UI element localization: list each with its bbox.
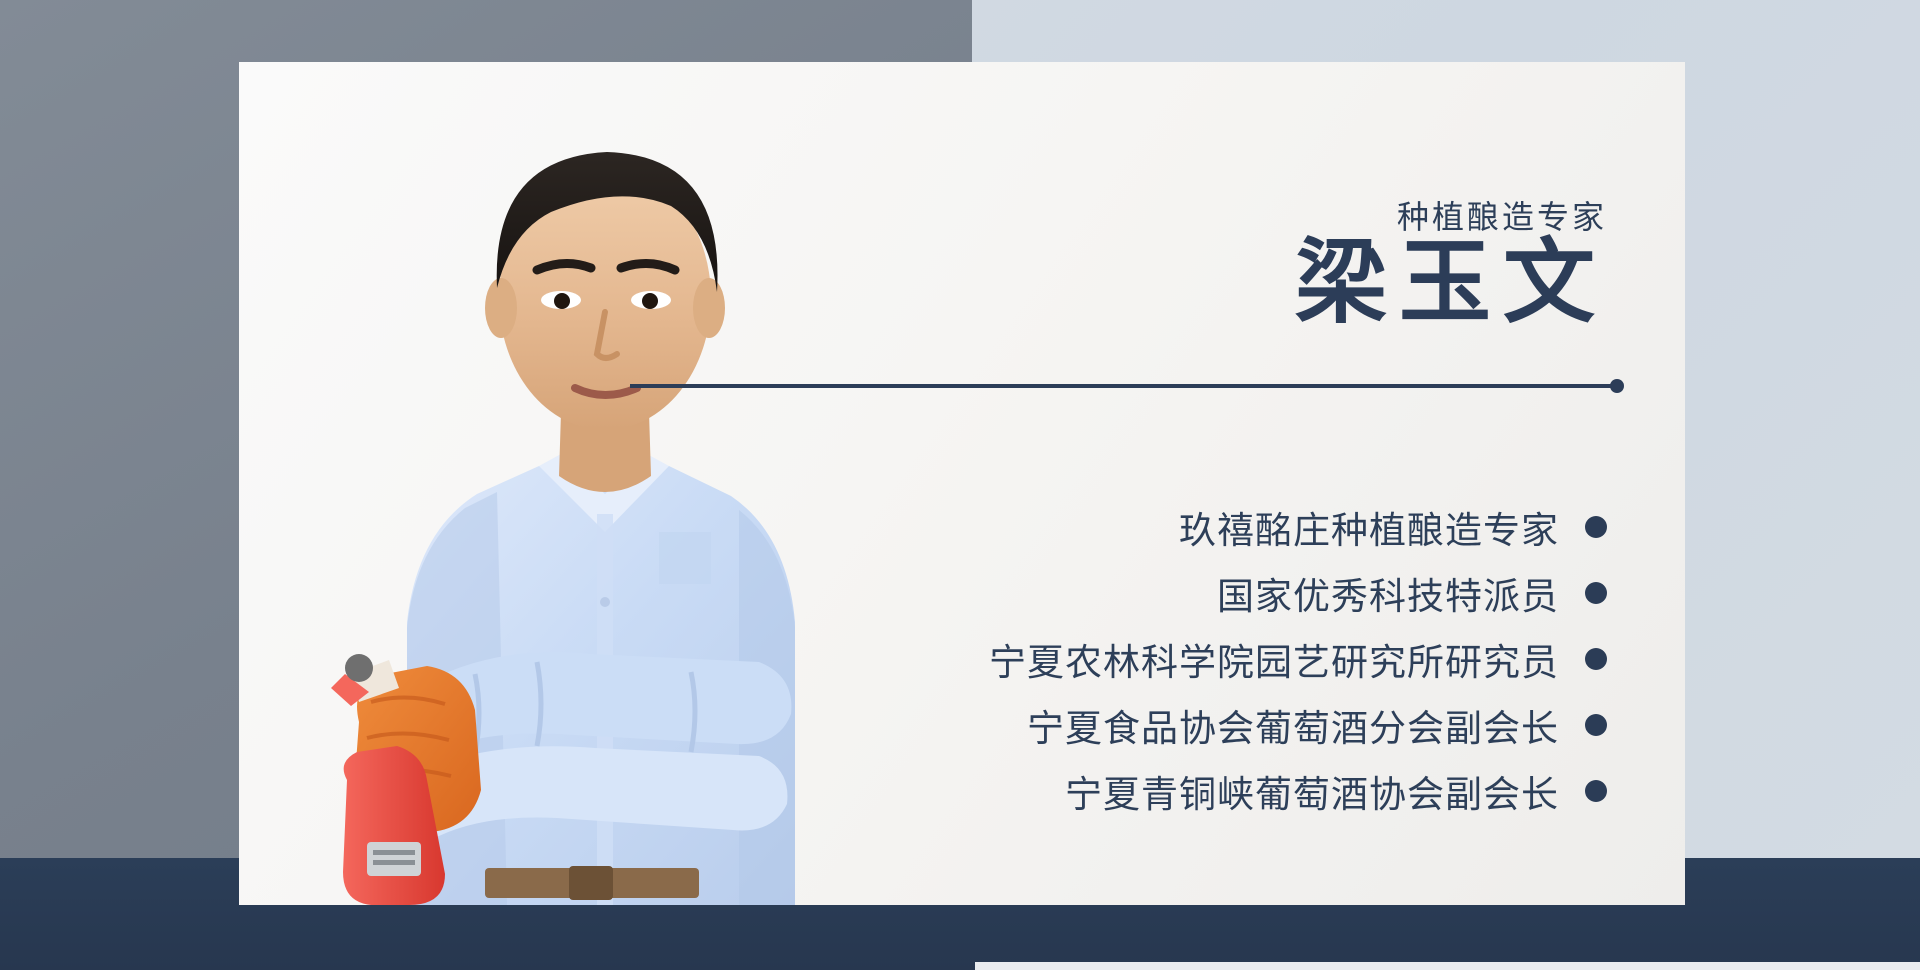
credential-label: 国家优秀科技特派员 (1217, 566, 1559, 620)
list-item: 宁夏食品协会葡萄酒分会副会长 (707, 692, 1607, 758)
credential-label: 玖禧酩庄种植酿造专家 (1179, 500, 1559, 554)
bullet-dot-icon (1585, 780, 1607, 802)
credential-label: 宁夏食品协会葡萄酒分会副会长 (1027, 698, 1559, 752)
expert-name: 梁玉文 (1283, 234, 1607, 333)
list-item: 国家优秀科技特派员 (707, 560, 1607, 626)
credential-label: 宁夏青铜峡葡萄酒协会副会长 (1065, 764, 1559, 818)
list-item: 宁夏农林科学院园艺研究所研究员 (707, 626, 1607, 692)
background-bottom-seam (975, 962, 1920, 970)
list-item: 玖禧酩庄种植酿造专家 (707, 494, 1607, 560)
bullet-dot-icon (1585, 648, 1607, 670)
profile-card: 种植酿造专家 梁玉文 玖禧酩庄种植酿造专家 国家优秀科技特派员 宁夏农林科学院园… (239, 62, 1685, 905)
poster-canvas: 种植酿造专家 梁玉文 玖禧酩庄种植酿造专家 国家优秀科技特派员 宁夏农林科学院园… (0, 0, 1920, 970)
credentials-list: 玖禧酩庄种植酿造专家 国家优秀科技特派员 宁夏农林科学院园艺研究所研究员 宁夏食… (707, 494, 1607, 824)
list-item: 宁夏青铜峡葡萄酒协会副会长 (707, 758, 1607, 824)
divider-end-dot-icon (1610, 379, 1624, 393)
horizontal-divider (630, 384, 1615, 388)
credential-label: 宁夏农林科学院园艺研究所研究员 (989, 632, 1559, 686)
bullet-dot-icon (1585, 516, 1607, 538)
bullet-dot-icon (1585, 582, 1607, 604)
bullet-dot-icon (1585, 714, 1607, 736)
